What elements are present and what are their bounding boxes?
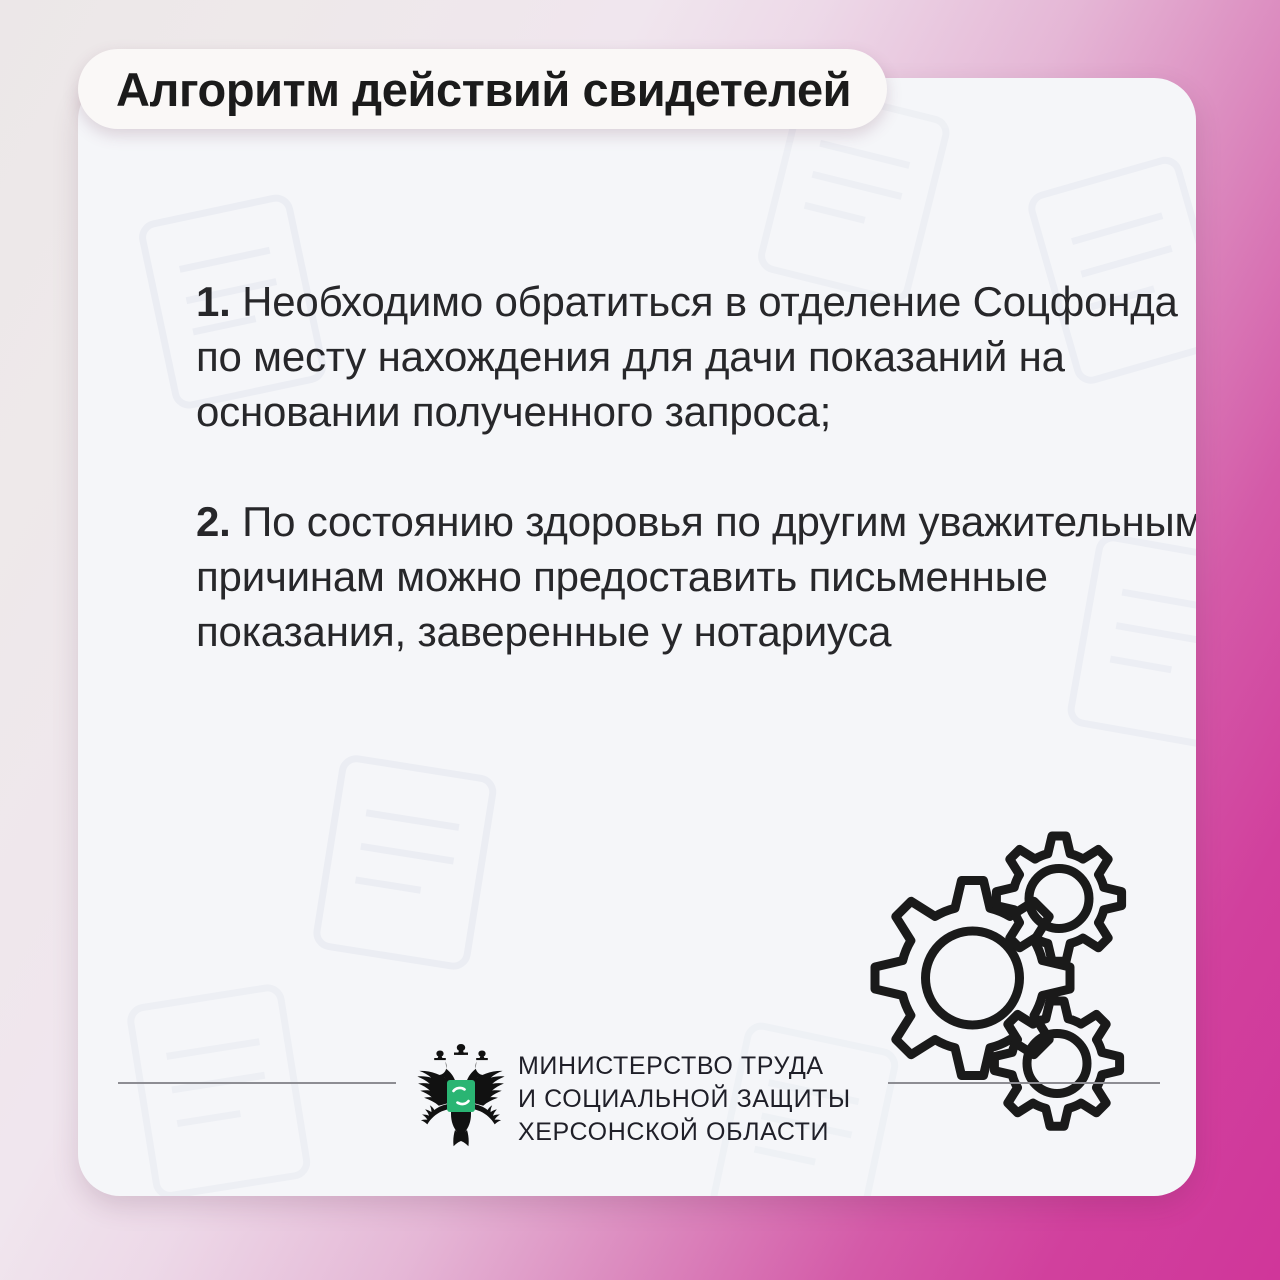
document-watermark — [288, 738, 528, 998]
ministry-line-1: МИНИСТЕРСТВО ТРУДА — [518, 1050, 851, 1083]
ministry-line-2: И СОЦИАЛЬНОЙ ЗАЩИТЫ — [518, 1083, 851, 1116]
ministry-line-3: ХЕРСОНСКОЙ ОБЛАСТИ — [518, 1116, 851, 1149]
divider-right — [888, 1082, 1160, 1084]
content-card: 1. Необходимо обратиться в отделение Соц… — [78, 78, 1196, 1196]
footer: МИНИСТЕРСТВО ТРУДА И СОЦИАЛЬНОЙ ЗАЩИТЫ Х… — [78, 1046, 1196, 1196]
page-title: Алгоритм действий свидетелей — [116, 62, 851, 117]
step-item-1: 1. Необходимо обратиться в отделение Соц… — [196, 274, 1196, 439]
title-pill: Алгоритм действий свидетелей — [78, 49, 887, 129]
ministry-name: МИНИСТЕРСТВО ТРУДА И СОЦИАЛЬНОЙ ЗАЩИТЫ Х… — [518, 1050, 851, 1149]
divider-left — [118, 1082, 396, 1084]
steps-list: 1. Необходимо обратиться в отделение Соц… — [196, 274, 1196, 659]
step-text-2: По состоянию здоровья по другим уважител… — [196, 498, 1196, 655]
step-text-1: Необходимо обратиться в отделение Соцфон… — [196, 278, 1178, 435]
step-item-2: 2. По состоянию здоровья по другим уважи… — [196, 494, 1196, 659]
step-number-1: 1. — [196, 278, 231, 325]
double-headed-eagle-emblem — [408, 1042, 514, 1154]
step-number-2: 2. — [196, 498, 231, 545]
